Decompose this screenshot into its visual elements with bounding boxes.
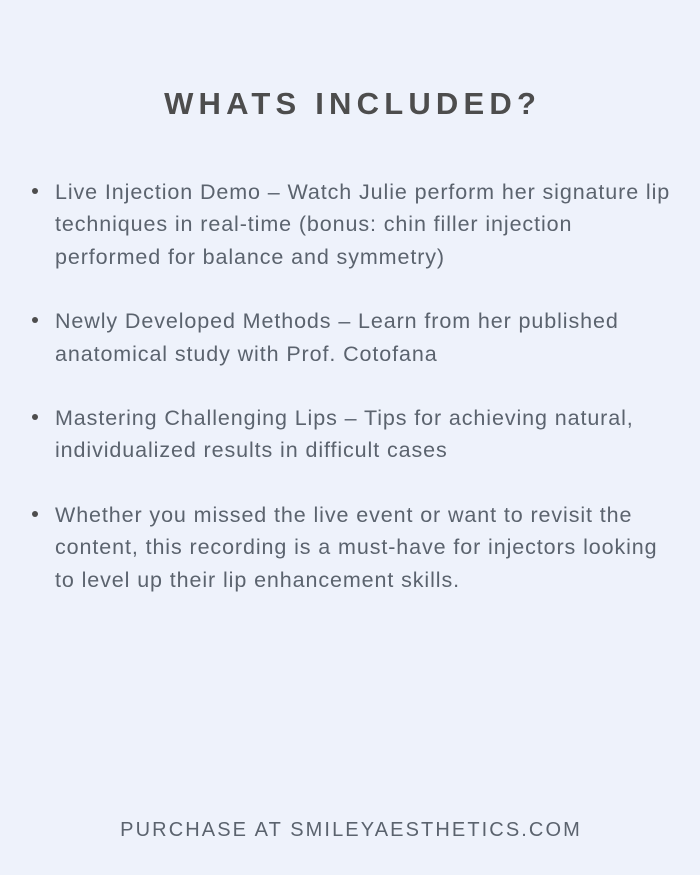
bullet-dot-icon xyxy=(32,188,38,194)
promo-poster: WHATS INCLUDED? Live Injection Demo – Wa… xyxy=(0,0,700,875)
footer-call-to-action: PURCHASE AT SMILEYAESTHETICS.COM xyxy=(0,816,700,844)
list-item-text: Newly Developed Methods – Learn from her… xyxy=(55,305,676,370)
list-item: Live Injection Demo – Watch Julie perfor… xyxy=(26,176,676,273)
page-title: WHATS INCLUDED? xyxy=(0,84,700,124)
list-item-text: Live Injection Demo – Watch Julie perfor… xyxy=(55,176,676,273)
bullet-dot-icon xyxy=(32,317,38,323)
list-item-text: Mastering Challenging Lips – Tips for ac… xyxy=(55,402,676,467)
bullet-dot-icon xyxy=(32,511,38,517)
list-item: Newly Developed Methods – Learn from her… xyxy=(26,305,676,370)
list-item: Whether you missed the live event or wan… xyxy=(26,499,676,596)
list-item: Mastering Challenging Lips – Tips for ac… xyxy=(26,402,676,467)
list-item-text: Whether you missed the live event or wan… xyxy=(55,499,676,596)
features-list: Live Injection Demo – Watch Julie perfor… xyxy=(26,176,676,596)
bullet-dot-icon xyxy=(32,414,38,420)
